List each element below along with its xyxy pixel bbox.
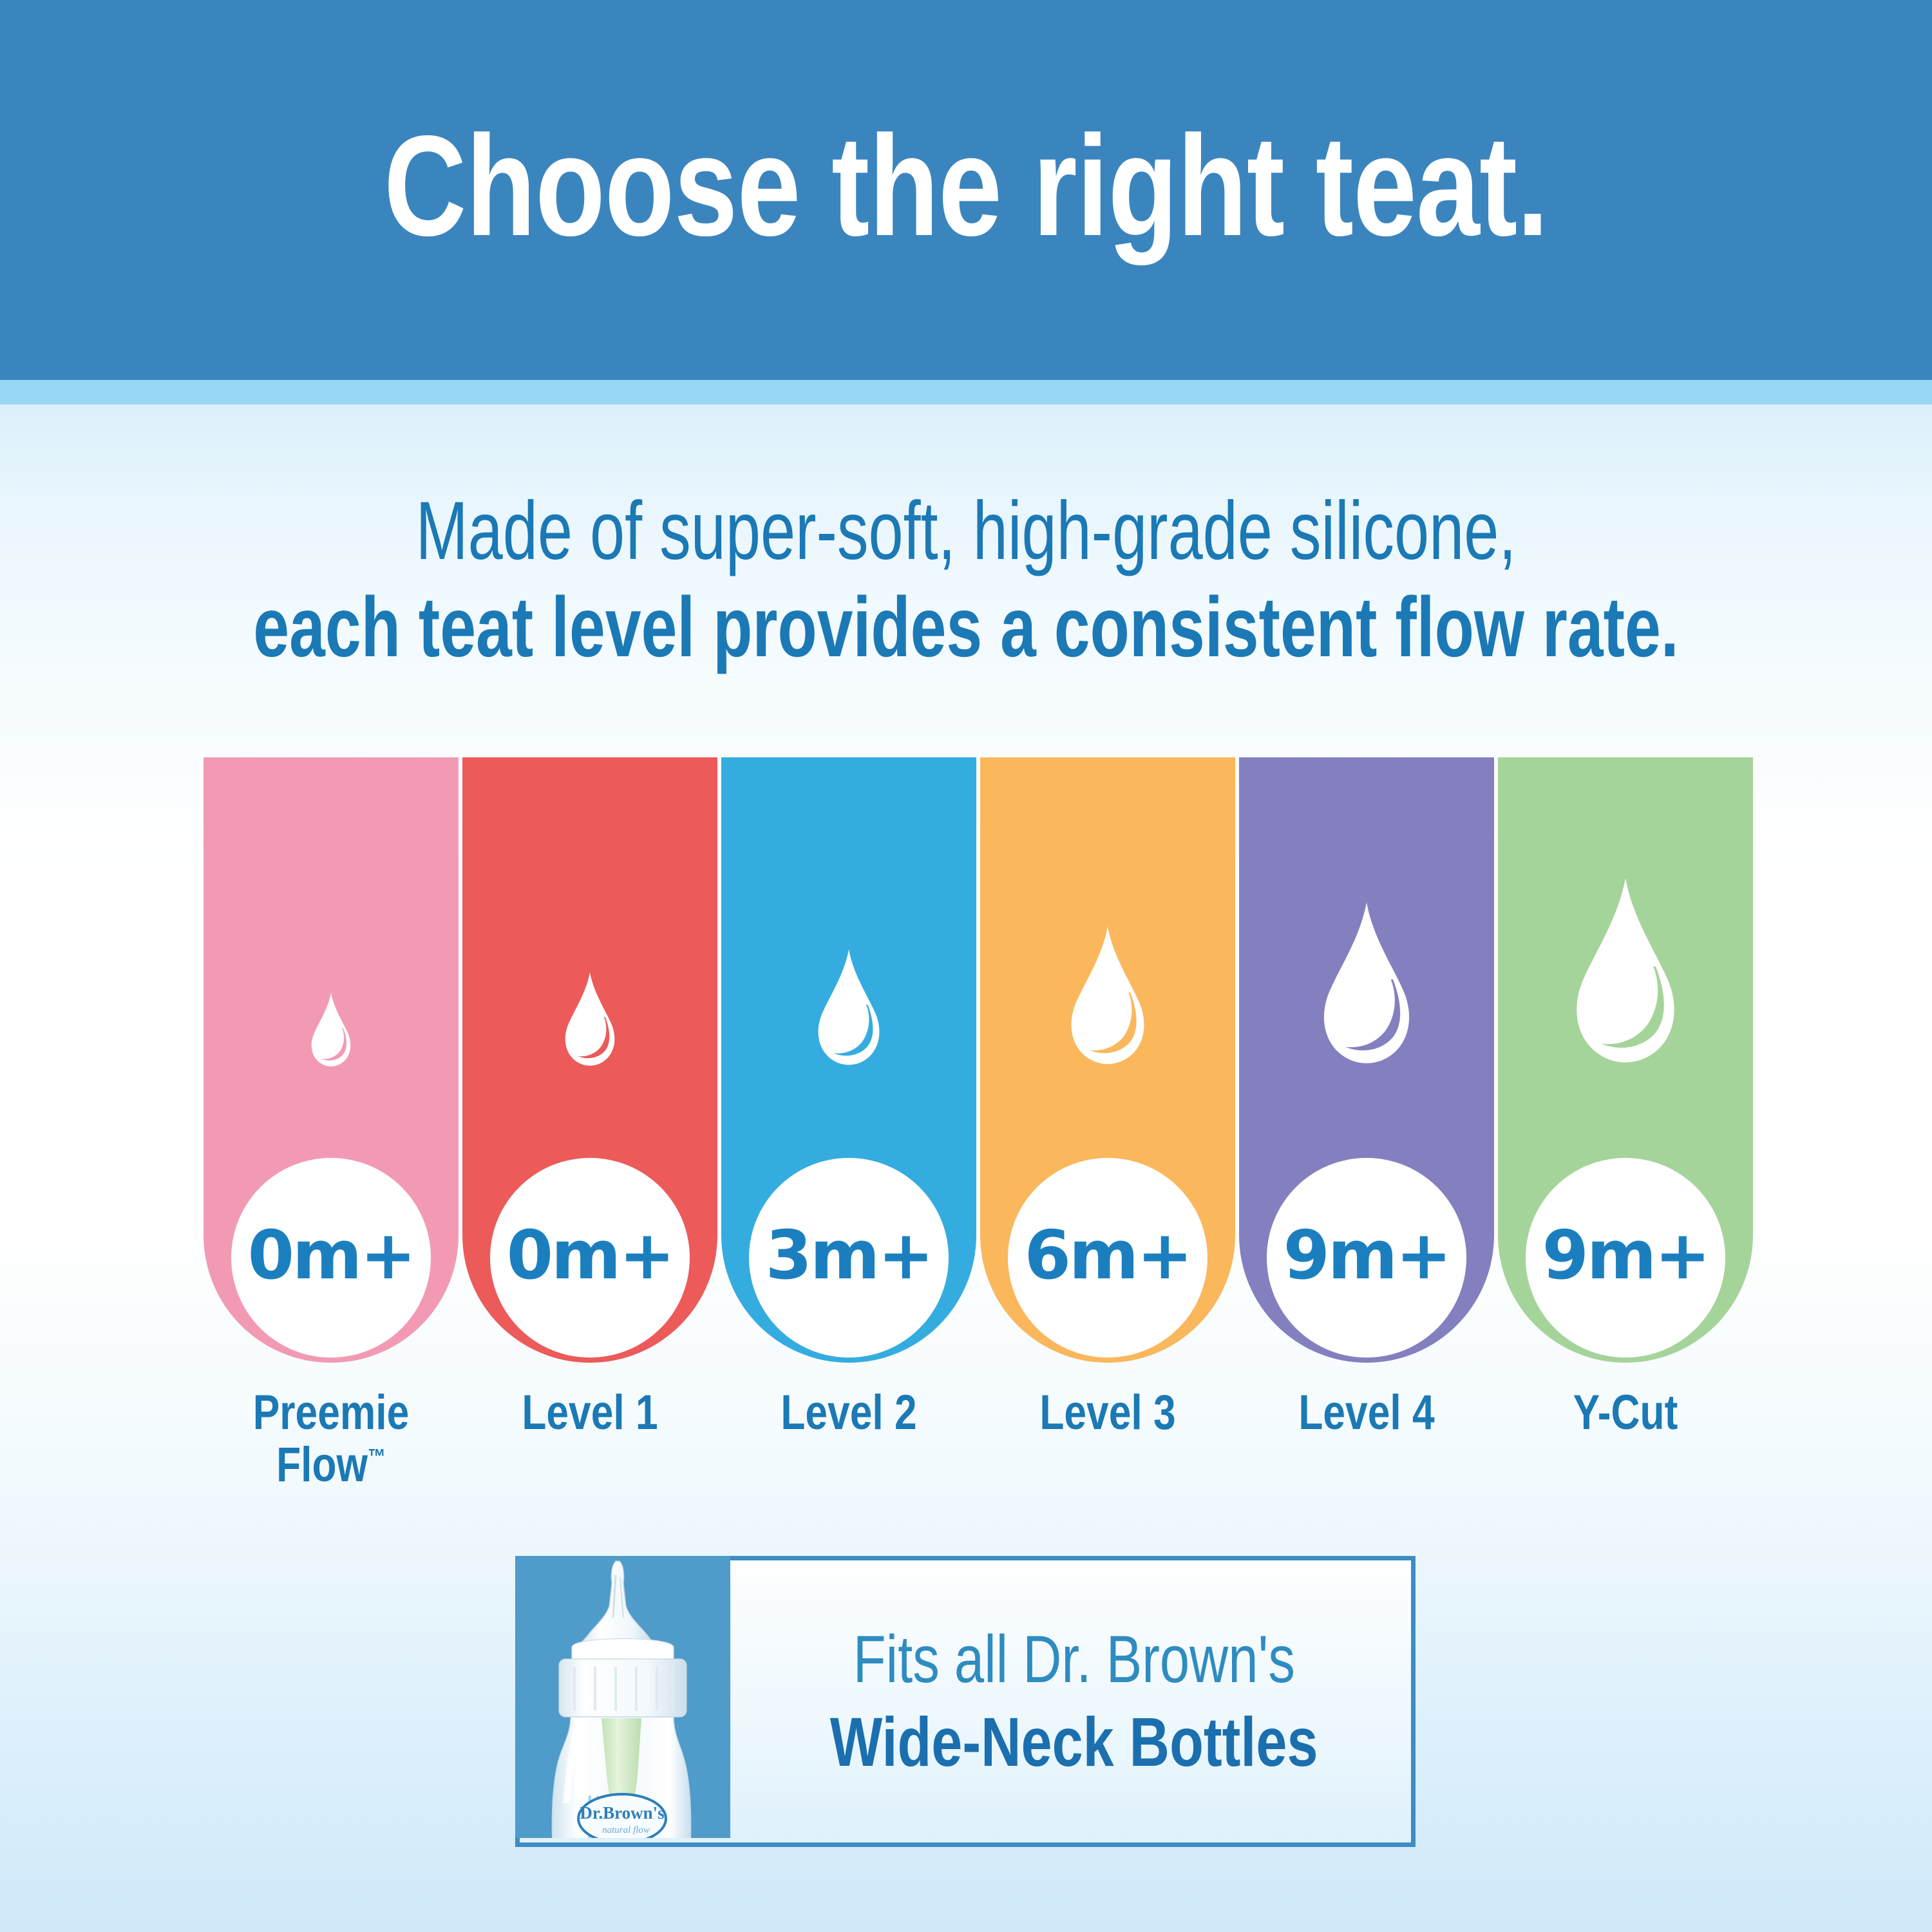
header-banner: Choose the right teat. — [0, 0, 1932, 380]
age-label: 9m+ — [1542, 1222, 1709, 1289]
teat-level-label: Level 3 — [980, 1387, 1235, 1439]
droplet-wrapper — [1498, 876, 1753, 1069]
water-droplet-icon — [1565, 876, 1686, 1069]
subtitle-block: Made of super-soft, high-grade silicone,… — [0, 489, 1932, 670]
teat-level-chart: 0m+ 0m+ 3m+ 6m+ 9m+ 9m+ — [204, 757, 1732, 1363]
teat-level-column[interactable]: 3m+ — [721, 757, 976, 1363]
age-label: 9m+ — [1283, 1222, 1450, 1289]
age-badge: 0m+ — [231, 1158, 431, 1358]
fits-all-bottles-box: Dr.Brown's natural flow Fits all Dr. Bro… — [515, 1556, 1416, 1847]
page-title: Choose the right teat. — [193, 115, 1739, 258]
footer-line-2: Wide-Neck Bottles — [830, 1706, 1318, 1778]
water-droplet-icon — [1063, 925, 1153, 1069]
trademark-symbol: ™ — [368, 1444, 386, 1469]
label-line: Flow™ — [227, 1439, 436, 1492]
teat-level-column[interactable]: 9m+ — [1239, 757, 1494, 1363]
bottle-photo: Dr.Brown's natural flow — [515, 1556, 730, 1838]
teat-level-label: PreemieFlow™ — [204, 1387, 459, 1491]
svg-text:natural flow: natural flow — [602, 1825, 650, 1835]
age-label: 0m+ — [248, 1222, 415, 1289]
label-line: Level 1 — [486, 1387, 695, 1439]
water-droplet-icon — [811, 948, 887, 1069]
teat-level-label: Level 4 — [1239, 1387, 1494, 1439]
label-line: Level 3 — [1003, 1387, 1213, 1439]
age-badge: 3m+ — [749, 1158, 949, 1358]
baby-bottle-icon: Dr.Brown's natural flow — [515, 1556, 730, 1838]
infographic-page: Choose the right teat. Made of super-sof… — [0, 0, 1932, 1932]
teat-level-label: Y-Cut — [1498, 1387, 1753, 1439]
dr-browns-logo-icon: Dr.Brown's natural flow — [578, 1794, 666, 1838]
label-line: Y-Cut — [1521, 1387, 1730, 1439]
water-droplet-icon — [559, 971, 621, 1069]
age-badge: 9m+ — [1526, 1158, 1725, 1358]
label-line: Level 2 — [744, 1387, 954, 1439]
label-line: Level 4 — [1262, 1387, 1472, 1439]
age-badge: 9m+ — [1267, 1158, 1466, 1358]
water-droplet-icon — [307, 992, 355, 1069]
teat-level-labels: PreemieFlow™Level 1Level 2Level 3Level 4… — [204, 1387, 1732, 1510]
droplet-wrapper — [1239, 900, 1494, 1069]
water-droplet-icon — [1314, 900, 1419, 1069]
age-badge: 0m+ — [490, 1158, 690, 1358]
droplet-wrapper — [980, 925, 1235, 1069]
footer-line-1: Fits all Dr. Brown's — [853, 1625, 1294, 1694]
teat-level-label: Level 2 — [721, 1387, 976, 1439]
subtitle-line-1: Made of super-soft, high-grade silicone, — [232, 489, 1700, 574]
droplet-wrapper — [462, 971, 717, 1069]
label-line: Preemie — [227, 1387, 436, 1439]
age-label: 0m+ — [507, 1222, 674, 1289]
footer-text-block: Fits all Dr. Brown's Wide-Neck Bottles — [730, 1560, 1411, 1842]
subtitle-line-2: each teat level provides a consistent fl… — [232, 584, 1700, 671]
teat-level-column[interactable]: 6m+ — [980, 757, 1235, 1363]
droplet-wrapper — [204, 992, 459, 1069]
teat-level-column[interactable]: 9m+ — [1498, 757, 1753, 1363]
svg-text:Dr.Brown's: Dr.Brown's — [580, 1803, 664, 1823]
teat-level-column[interactable]: 0m+ — [462, 757, 717, 1363]
teat-level-label: Level 1 — [462, 1387, 717, 1439]
age-label: 3m+ — [766, 1222, 933, 1289]
droplet-wrapper — [721, 948, 976, 1069]
age-label: 6m+ — [1025, 1222, 1191, 1289]
teat-level-column[interactable]: 0m+ — [204, 757, 459, 1363]
age-badge: 6m+ — [1008, 1158, 1207, 1358]
